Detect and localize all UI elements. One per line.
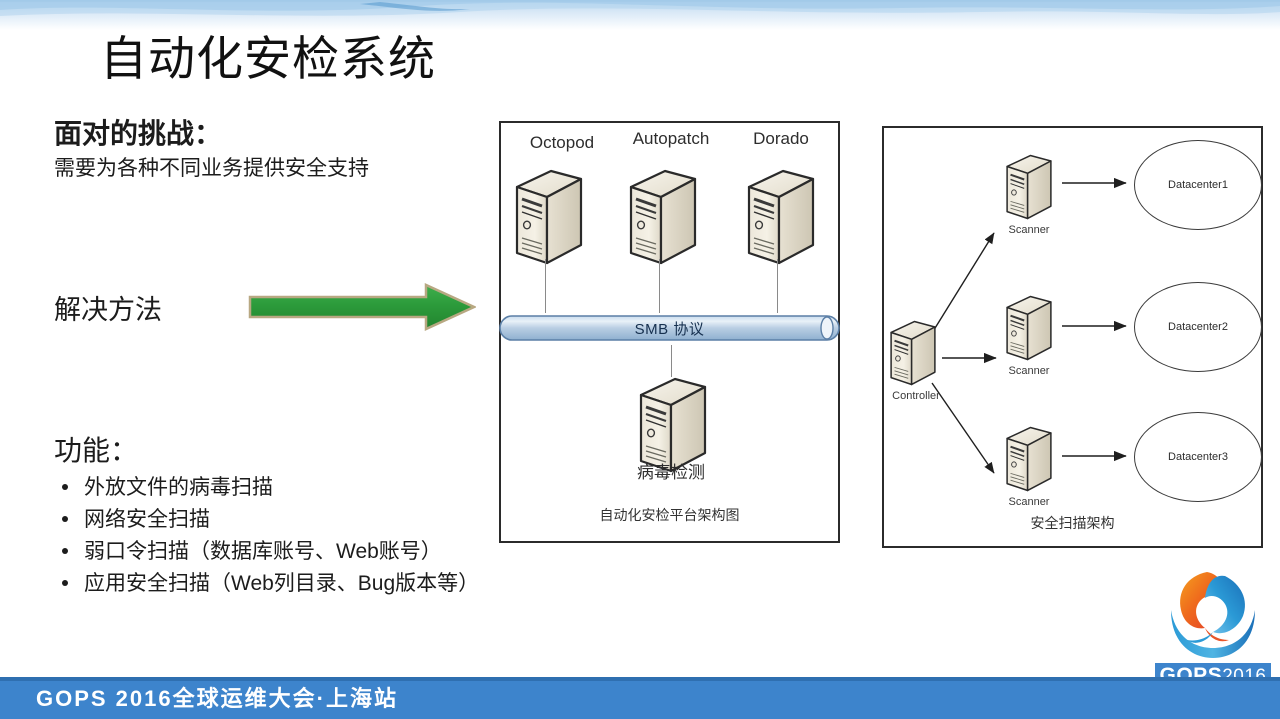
- node-label-scanner-2: Scanner: [994, 365, 1064, 377]
- architecture-diagram-caption: 自动化安检平台架构图: [501, 505, 838, 525]
- server-icon-autopatch: [623, 163, 703, 271]
- smb-protocol-bus: [499, 314, 840, 342]
- list-item: 应用安全扫描（Web列目录、Bug版本等）: [54, 568, 479, 600]
- scan-diagram-caption: 安全扫描架构: [884, 513, 1261, 533]
- challenge-heading: 面对的挑战：: [54, 117, 222, 151]
- list-item: 网络安全扫描: [54, 504, 479, 536]
- bullet-icon: [62, 548, 68, 554]
- server-icon-scanner-1: [1002, 150, 1056, 224]
- features-heading: 功能：: [54, 434, 138, 468]
- bullet-icon: [62, 484, 68, 490]
- connector-line-octopod: [545, 259, 546, 313]
- node-label-octopod: Octopod: [507, 133, 617, 153]
- datacenter-node-3: Datacenter3: [1134, 412, 1262, 502]
- node-label-autopatch: Autopatch: [611, 129, 731, 149]
- scan-architecture-diagram-box: Controller Scanner Scanner Scanner Datac…: [882, 126, 1263, 548]
- datacenter-node-2: Datacenter2: [1134, 282, 1262, 372]
- bullet-icon: [62, 516, 68, 522]
- connector-line-autopatch: [659, 259, 660, 313]
- footer-text: GOPS 2016全球运维大会·上海站: [36, 686, 398, 712]
- node-label-dorado: Dorado: [726, 129, 836, 149]
- node-label-scanner-3: Scanner: [994, 496, 1064, 508]
- datacenter-node-1: Datacenter1: [1134, 140, 1262, 230]
- feature-label: 弱口令扫描（数据库账号、Web账号）: [84, 540, 442, 563]
- server-icon-dorado: [741, 163, 821, 271]
- node-label-controller: Controller: [880, 390, 952, 402]
- solution-arrow-icon: [248, 283, 476, 331]
- features-list: 外放文件的病毒扫描 网络安全扫描 弱口令扫描（数据库账号、Web账号） 应用安全…: [54, 472, 479, 600]
- solution-heading: 解决方法: [54, 293, 162, 327]
- bullet-icon: [62, 580, 68, 586]
- top-decorative-banner: [0, 0, 1280, 30]
- server-icon-scanner-3: [1002, 422, 1056, 496]
- server-icon-octopod: [509, 163, 589, 271]
- feature-label: 应用安全扫描（Web列目录、Bug版本等）: [84, 572, 479, 595]
- feature-label: 外放文件的病毒扫描: [84, 476, 273, 499]
- server-icon-controller: [886, 316, 940, 390]
- challenge-description: 需要为各种不同业务提供安全支持: [54, 155, 369, 182]
- page-title: 自动化安检系统: [100, 30, 436, 88]
- node-label-scanner-1: Scanner: [994, 224, 1064, 236]
- banner-wave-graphic: [0, 0, 1280, 30]
- list-item: 弱口令扫描（数据库账号、Web账号）: [54, 536, 479, 568]
- connector-line-dorado: [777, 259, 778, 313]
- server-icon-scanner-2: [1002, 291, 1056, 365]
- gops-swirl-icon: [1165, 566, 1261, 662]
- feature-label: 网络安全扫描: [84, 508, 210, 531]
- node-label-virus-detection: 病毒检测: [611, 458, 731, 483]
- list-item: 外放文件的病毒扫描: [54, 472, 479, 504]
